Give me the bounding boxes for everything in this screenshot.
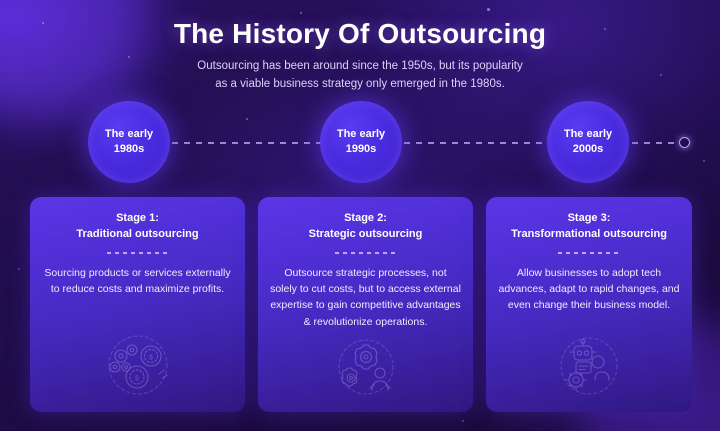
subtitle-line-2: as a viable business strategy only emerg… [0, 76, 720, 94]
timeline-node-label-line1: The early [564, 127, 612, 142]
timeline-node-label-line2: 1980s [114, 142, 145, 157]
timeline-node-label-line2: 2000s [573, 142, 604, 157]
timeline-node-1980s[interactable]: The early 1980s [88, 101, 170, 183]
subtitle-line-1: Outsourcing has been around since the 19… [0, 58, 720, 76]
page-title: The History Of Outsourcing [0, 18, 720, 50]
timeline-node-1990s[interactable]: The early 1990s [320, 101, 402, 183]
timeline-dashed-segment-1 [160, 142, 322, 144]
header: The History Of Outsourcing Outsourcing h… [0, 18, 720, 94]
page-subtitle: Outsourcing has been around since the 19… [0, 58, 720, 94]
timeline-node-label-line1: The early [105, 127, 153, 142]
timeline-node-label-line2: 1990s [346, 142, 377, 157]
infographic-canvas: The History Of Outsourcing Outsourcing h… [0, 0, 720, 431]
timeline-node-label-line1: The early [337, 127, 385, 142]
timeline-node-2000s[interactable]: The early 2000s [547, 101, 629, 183]
timeline-endpoint-icon [679, 137, 690, 148]
timeline-dashed-segment-2 [392, 142, 552, 144]
